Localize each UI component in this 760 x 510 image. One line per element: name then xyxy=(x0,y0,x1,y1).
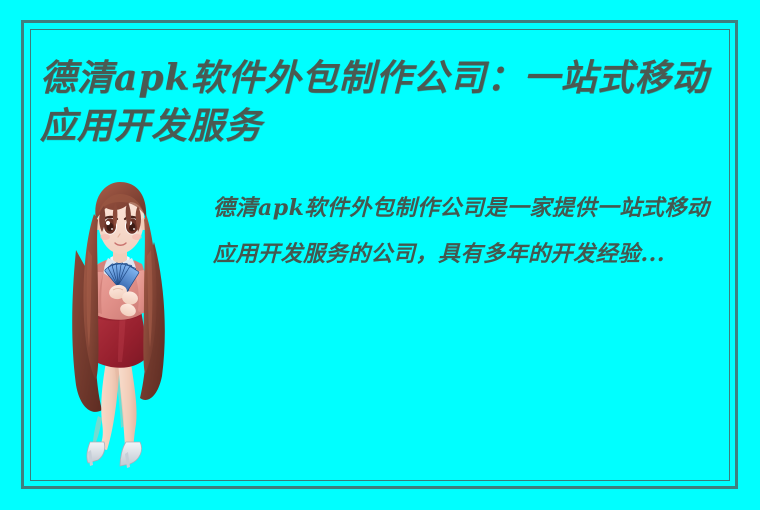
promo-banner: 德清apk软件外包制作公司：一站式移动应用开发服务 德清apk软件外包制作公司是… xyxy=(0,0,760,510)
body-description: 德清apk软件外包制作公司是一家提供一站式移动应用开发服务的公司，具有多年的开发… xyxy=(213,185,728,277)
shoes xyxy=(87,442,142,468)
page-title: 德清apk软件外包制作公司：一站式移动应用开发服务 xyxy=(40,54,734,150)
anime-girl-illustration xyxy=(58,180,198,475)
